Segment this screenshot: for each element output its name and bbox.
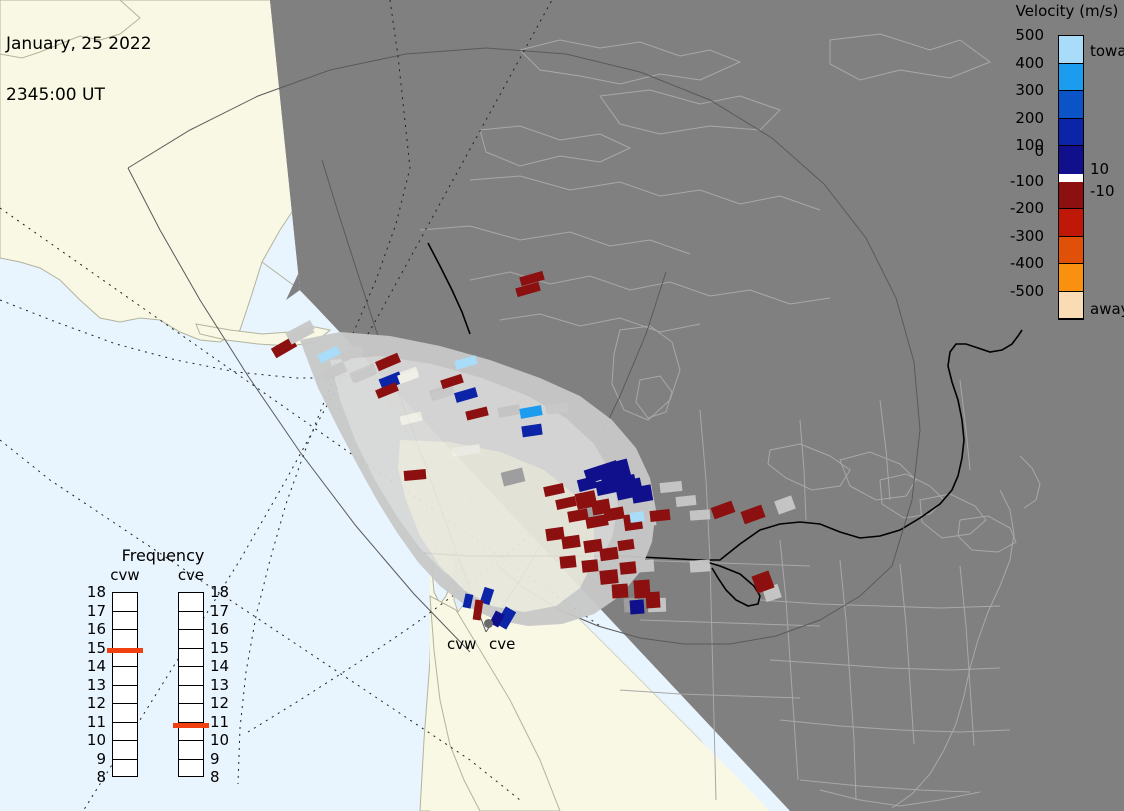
frequency-cell — [179, 704, 203, 723]
frequency-tick-cvw-17: 17 — [80, 602, 106, 620]
radar-fan-plot: January, 25 2022 2345:00 UT cvw cve Velo… — [0, 0, 1124, 811]
frequency-cell — [113, 723, 137, 742]
colorbar-band-5 — [1059, 174, 1083, 182]
velocity-cell — [599, 569, 618, 585]
radar-site-marker — [484, 619, 493, 628]
frequency-cell — [113, 593, 137, 612]
frequency-bar-cve — [178, 592, 204, 777]
frequency-bar-cvw — [112, 592, 138, 777]
frequency-marker-cve — [173, 723, 209, 728]
colorbar-band-2 — [1059, 91, 1083, 119]
frequency-tick-cve-15: 15 — [210, 639, 236, 657]
colorbar-tick-neg400: -400 — [984, 254, 1044, 272]
colorbar-band-4 — [1059, 146, 1083, 174]
frequency-cell — [113, 741, 137, 760]
velocity-cell — [599, 547, 618, 561]
frequency-cell — [113, 704, 137, 723]
frequency-cell — [113, 612, 137, 631]
frequency-tick-cvw-15: 15 — [80, 639, 106, 657]
velocity-cell — [561, 535, 580, 549]
site-label-cve: cve — [489, 635, 515, 653]
colorbar-band-10 — [1059, 292, 1083, 320]
frequency-title: Frequency — [88, 546, 238, 565]
frequency-tick-cvw-16: 16 — [80, 620, 106, 638]
frequency-tick-cvw-12: 12 — [80, 694, 106, 712]
colorbar-band-6 — [1059, 182, 1083, 210]
velocity-cell — [740, 505, 765, 525]
frequency-tick-cve-16: 16 — [210, 620, 236, 638]
timestamp: January, 25 2022 2345:00 UT — [6, 2, 152, 138]
frequency-cell — [179, 667, 203, 686]
frequency-cell — [179, 760, 203, 779]
colorbar-gradient — [1058, 35, 1084, 320]
velocity-cell — [631, 484, 653, 503]
colorbar-neg-threshold-label: -10 — [1090, 182, 1115, 200]
frequency-marker-cvw — [107, 648, 143, 653]
colorbar-tick-neg300: -300 — [984, 227, 1044, 245]
frequency-tick-cvw-11: 11 — [80, 713, 106, 731]
velocity-cell — [581, 559, 598, 573]
colorbar-tick-300: 300 — [984, 81, 1044, 99]
colorbar-tick-0: 0 — [984, 142, 1044, 160]
frequency-cell — [113, 630, 137, 649]
timestamp-time: 2345:00 UT — [6, 87, 152, 104]
colorbar-tick-neg200: -200 — [984, 199, 1044, 217]
frequency-column-name-cve: cve — [168, 566, 214, 584]
colorbar-title: Velocity (m/s) — [1002, 2, 1124, 20]
velocity-cell — [711, 501, 736, 520]
frequency-tick-cve-17: 17 — [210, 602, 236, 620]
colorbar-band-3 — [1059, 119, 1083, 147]
colorbar-band-0 — [1059, 36, 1083, 64]
colorbar-away-label: away — [1090, 300, 1124, 318]
frequency-tick-cve-14: 14 — [210, 657, 236, 675]
velocity-cell — [629, 511, 644, 523]
frequency-tick-cvw-18: 18 — [80, 583, 106, 601]
colorbar-band-9 — [1059, 264, 1083, 292]
colorbar-tick-neg100: -100 — [984, 172, 1044, 190]
colorbar-band-8 — [1059, 237, 1083, 265]
frequency-tick-cvw-10: 10 — [80, 731, 106, 749]
frequency-tick-cvw-8: 8 — [80, 768, 106, 786]
frequency-tick-cve-9: 9 — [210, 750, 236, 768]
ground-scatter-region — [285, 320, 796, 626]
frequency-tick-cve-18: 18 — [210, 583, 236, 601]
frequency-cell — [179, 686, 203, 705]
frequency-cell — [179, 630, 203, 649]
velocity-colorbar: Velocity (m/s) 5004003002001000-100-200-… — [1010, 0, 1124, 340]
colorbar-pos-threshold-label: 10 — [1090, 160, 1109, 178]
velocity-cell — [619, 561, 636, 575]
colorbar-tick-500: 500 — [984, 26, 1044, 44]
frequency-cell — [179, 741, 203, 760]
frequency-legend: Frequency cvw18171615141312111098cve1817… — [88, 546, 238, 786]
frequency-tick-cve-11: 11 — [210, 713, 236, 731]
frequency-cell — [113, 667, 137, 686]
velocity-cell — [649, 509, 670, 522]
velocity-cell — [404, 469, 427, 481]
frequency-cell — [113, 686, 137, 705]
frequency-column-name-cvw: cvw — [102, 566, 148, 584]
frequency-tick-cvw-14: 14 — [80, 657, 106, 675]
frequency-tick-cvw-13: 13 — [80, 676, 106, 694]
colorbar-toward-label: toward — [1090, 42, 1124, 60]
velocity-cell — [645, 592, 660, 609]
frequency-cell — [113, 760, 137, 779]
colorbar-band-7 — [1059, 209, 1083, 237]
colorbar-band-1 — [1059, 64, 1083, 92]
frequency-tick-cve-13: 13 — [210, 676, 236, 694]
colorbar-tick-neg500: -500 — [984, 282, 1044, 300]
frequency-cell — [179, 593, 203, 612]
frequency-cell — [179, 649, 203, 668]
frequency-tick-cve-12: 12 — [210, 694, 236, 712]
timestamp-date: January, 25 2022 — [6, 36, 152, 53]
velocity-cell — [630, 600, 645, 615]
velocity-cell — [559, 555, 576, 569]
colorbar-tick-400: 400 — [984, 54, 1044, 72]
frequency-cell — [179, 612, 203, 631]
site-label-cvw: cvw — [447, 635, 476, 653]
colorbar-tick-200: 200 — [984, 109, 1044, 127]
frequency-tick-cve-10: 10 — [210, 731, 236, 749]
velocity-cell — [612, 583, 629, 598]
frequency-tick-cve-8: 8 — [210, 768, 236, 786]
frequency-tick-cvw-9: 9 — [80, 750, 106, 768]
